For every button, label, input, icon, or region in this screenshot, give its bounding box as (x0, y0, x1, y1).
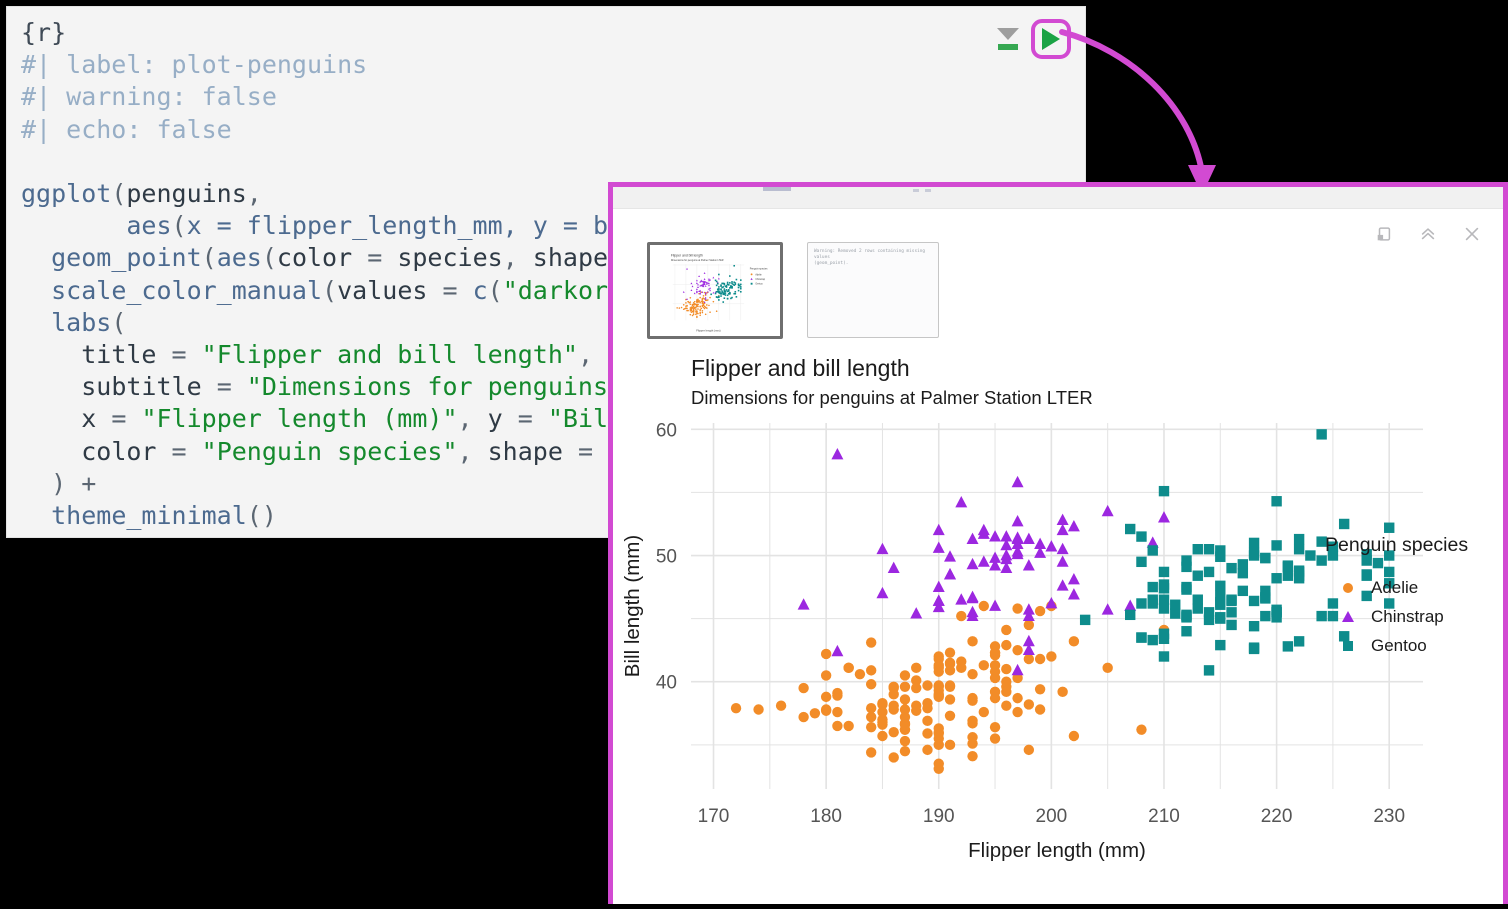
data-point (1271, 573, 1281, 583)
run-cell-button[interactable] (1031, 19, 1071, 59)
legend-label: Chinstrap (1371, 607, 1444, 627)
data-point (900, 746, 910, 756)
data-point (945, 658, 955, 668)
data-point (1046, 651, 1056, 661)
data-point (1215, 613, 1225, 623)
data-point (776, 701, 786, 711)
data-point (716, 296, 718, 298)
data-point (727, 291, 729, 293)
data-point (695, 304, 697, 306)
data-point (945, 647, 955, 657)
code-token: = (156, 340, 201, 369)
data-point (738, 287, 740, 289)
data-point (736, 279, 738, 281)
data-point (990, 693, 1000, 703)
data-point (978, 524, 990, 535)
data-point (934, 689, 944, 699)
data-point (699, 309, 701, 311)
code-editor-text[interactable]: {r}#| label: plot-penguins#| warning: fa… (7, 17, 697, 532)
code-token: , (503, 243, 533, 272)
data-point (1000, 530, 1012, 541)
data-point (1023, 533, 1035, 544)
data-point (821, 692, 831, 702)
data-point (1148, 545, 1158, 555)
data-point (691, 309, 693, 311)
code-line: theme_minimal() (21, 500, 683, 532)
data-point (705, 294, 707, 296)
data-point (686, 310, 688, 312)
data-point (810, 708, 820, 718)
x-tick-label: 170 (698, 806, 730, 827)
data-point (731, 283, 733, 285)
warning-thumbnail[interactable]: Warning: Removed 2 rows containing missi… (807, 242, 939, 338)
data-point (1159, 486, 1169, 496)
data-point (866, 722, 876, 732)
viewer-top-strip (613, 187, 1503, 209)
data-point (1249, 621, 1259, 631)
x-tick-label: 200 (1036, 806, 1068, 827)
data-point (821, 706, 831, 716)
code-token: subtitle (81, 372, 201, 401)
data-point (956, 611, 966, 621)
data-point (888, 562, 900, 573)
data-point (1012, 531, 1024, 542)
data-point (696, 316, 698, 318)
x-tick-label: 230 (1373, 806, 1405, 827)
data-point (1001, 701, 1011, 711)
data-point (706, 304, 708, 306)
data-point (721, 283, 723, 285)
data-point (832, 690, 842, 700)
data-point (690, 301, 692, 303)
code-token: c (473, 276, 488, 305)
data-point (685, 305, 687, 307)
data-point (699, 297, 701, 299)
data-point (889, 727, 899, 737)
data-point (866, 637, 876, 647)
data-point (843, 721, 853, 731)
data-point (990, 733, 1000, 743)
code-token: "Penguin species" (202, 437, 458, 466)
data-point (989, 600, 1001, 611)
data-point (683, 304, 685, 306)
data-point (922, 745, 932, 755)
data-point (900, 694, 910, 704)
data-point (910, 607, 922, 618)
code-token: shape (488, 437, 563, 466)
data-point (696, 288, 698, 290)
data-point (1283, 641, 1293, 651)
data-point (900, 712, 910, 722)
data-point (740, 291, 742, 293)
legend-item-chinstrap: Chinstrap (1325, 602, 1468, 631)
code-token: = (563, 437, 608, 466)
data-point (700, 308, 702, 310)
data-point (832, 707, 842, 717)
code-token: ( (172, 211, 187, 240)
code-line: aes(x = flipper_length_mm, y = bill_l (21, 210, 683, 242)
data-point (1012, 693, 1022, 703)
data-point (705, 313, 707, 315)
data-point (1294, 636, 1304, 646)
data-point (703, 297, 705, 299)
data-point (684, 308, 686, 310)
code-token: () (247, 501, 277, 530)
x-axis-label: Flipper length (mm) (968, 839, 1146, 862)
code-token: = (352, 243, 397, 272)
data-point (933, 541, 945, 552)
data-point (753, 704, 763, 714)
data-point (911, 675, 921, 685)
main-chart: Flipper and bill length Dimensions for p… (613, 349, 1503, 899)
cell-toolbar (995, 19, 1071, 59)
data-point (990, 722, 1000, 732)
thumbnail-text: Flipper and bill length (671, 254, 703, 258)
data-point (1136, 724, 1146, 734)
code-token (21, 501, 51, 530)
data-point (989, 552, 1001, 563)
data-point (1148, 635, 1158, 645)
data-point (900, 682, 910, 692)
data-point (724, 297, 726, 299)
data-point (967, 533, 979, 544)
data-point (1339, 519, 1349, 529)
legend-label: Gentoo (1371, 636, 1427, 656)
data-point (696, 305, 698, 307)
code-token: , (578, 340, 593, 369)
data-point (1102, 663, 1112, 673)
toolbar-ghost-dot (913, 189, 919, 192)
data-point (1204, 567, 1214, 577)
data-point (1012, 515, 1024, 526)
data-point (708, 278, 710, 280)
data-point (700, 300, 702, 302)
chart-legend: Penguin species Adelie Chinstrap Gentoo (1325, 534, 1468, 660)
data-point (1193, 571, 1203, 581)
code-token (21, 469, 51, 498)
data-point (1215, 640, 1225, 650)
code-line: x = "Flipper length (mm)", y = "Bill ler (21, 403, 683, 435)
code-token: ( (262, 243, 277, 272)
plot-thumbnail[interactable]: Flipper and bill lengthDimensions for pe… (647, 242, 783, 339)
data-point (821, 670, 831, 680)
data-point (1215, 600, 1225, 610)
code-token: geom_point (51, 243, 202, 272)
data-point (956, 656, 966, 666)
data-point (690, 307, 692, 309)
code-line: #| echo: false (21, 114, 683, 146)
data-point (731, 703, 741, 713)
data-point (1249, 596, 1259, 606)
code-line: #| warning: false (21, 81, 683, 113)
data-point (798, 712, 808, 722)
data-point (979, 660, 989, 670)
data-point (720, 284, 722, 286)
data-point (1012, 707, 1022, 717)
data-point (1384, 523, 1394, 533)
data-point (1249, 538, 1259, 548)
data-point (718, 274, 720, 276)
data-point (1181, 626, 1191, 636)
data-point (698, 275, 700, 277)
data-point (933, 594, 945, 605)
data-point (1001, 640, 1011, 650)
data-point (978, 555, 990, 566)
close-icon[interactable] (1463, 225, 1481, 243)
data-point (1012, 476, 1024, 487)
viewer-body: Flipper and bill lengthDimensions for pe… (613, 209, 1503, 904)
data-point (1035, 654, 1045, 664)
data-point (740, 286, 742, 288)
code-line: subtitle = "Dimensions for penguins at P (21, 371, 683, 403)
code-token: #| warning: false (21, 82, 277, 111)
data-point (691, 289, 693, 291)
data-point (709, 311, 711, 313)
code-token: = (503, 404, 548, 433)
code-token: , (458, 404, 488, 433)
panel-window-controls (1375, 225, 1481, 243)
code-token: = (156, 437, 201, 466)
data-point (726, 289, 728, 291)
data-point (990, 647, 1000, 657)
data-point (889, 701, 899, 711)
data-point (731, 281, 733, 283)
code-token (21, 372, 81, 401)
code-token: aes (126, 211, 171, 240)
code-token (21, 437, 81, 466)
data-point (1148, 594, 1158, 604)
data-point (1057, 543, 1069, 554)
data-point (718, 278, 720, 280)
code-token: #| label: plot-penguins (21, 50, 367, 79)
data-point (1125, 610, 1135, 620)
data-point (690, 297, 692, 299)
data-point (832, 721, 842, 731)
data-point (821, 649, 831, 659)
data-point (1215, 581, 1225, 591)
data-point (1102, 505, 1114, 516)
data-point (733, 265, 735, 267)
data-point (702, 299, 704, 301)
data-point (889, 689, 899, 699)
data-point (728, 293, 730, 295)
data-point (717, 283, 719, 285)
data-point (751, 273, 753, 275)
code-line: labs( (21, 307, 683, 339)
data-point (1136, 598, 1146, 608)
data-point (733, 293, 735, 295)
code-token: species (397, 243, 502, 272)
code-token: #| echo: false (21, 115, 232, 144)
data-point (1283, 571, 1293, 581)
thumbnail-text: Gentoo (755, 283, 763, 286)
data-point (1001, 664, 1011, 674)
data-point (967, 732, 977, 742)
data-point (900, 736, 910, 746)
data-point (738, 283, 740, 285)
data-point (967, 716, 977, 726)
data-point (735, 284, 737, 286)
data-point (724, 284, 726, 286)
data-point (1204, 544, 1214, 554)
code-line: title = "Flipper and bill length", (21, 339, 683, 371)
y-axis-label: Bill length (mm) (621, 535, 644, 677)
data-point (934, 764, 944, 774)
data-point (1068, 588, 1080, 599)
code-line: {r} (21, 17, 683, 49)
code-token (21, 340, 81, 369)
data-point (720, 295, 722, 297)
data-point (681, 307, 683, 309)
data-point (1159, 603, 1169, 613)
code-token: ggplot (21, 179, 111, 208)
data-point (1057, 687, 1067, 697)
data-point (740, 288, 742, 290)
data-point (1260, 586, 1270, 596)
data-point (720, 293, 722, 295)
data-point (1136, 632, 1146, 642)
data-point (694, 292, 696, 294)
data-point (1159, 583, 1169, 593)
data-point (717, 288, 719, 290)
popout-icon[interactable] (1375, 225, 1393, 243)
data-points (731, 429, 1395, 774)
data-point (696, 310, 698, 312)
data-point (686, 268, 688, 270)
data-point (1170, 608, 1180, 618)
x-tick-label: 180 (810, 806, 842, 827)
data-point (708, 305, 710, 307)
data-point (736, 296, 738, 298)
data-point (955, 593, 967, 604)
data-point (1294, 571, 1304, 581)
data-point (967, 558, 979, 569)
data-point (706, 300, 708, 302)
data-point (877, 698, 887, 708)
data-point (692, 315, 694, 317)
toolbar-ghost-item (763, 187, 791, 191)
data-point (720, 288, 722, 290)
code-token: theme_minimal (51, 501, 247, 530)
code-token: , (458, 437, 488, 466)
data-point (1068, 520, 1080, 531)
data-point (729, 282, 731, 284)
data-point (1238, 586, 1248, 596)
data-point (1035, 704, 1045, 714)
data-point (729, 275, 731, 277)
data-point (712, 277, 714, 279)
data-point (699, 290, 701, 292)
data-point (1024, 620, 1034, 630)
data-point (1035, 684, 1045, 694)
data-point (713, 301, 715, 303)
data-point (1249, 642, 1259, 652)
code-token: ( (111, 308, 126, 337)
code-token: , (247, 179, 262, 208)
data-point (1271, 496, 1281, 506)
data-point (685, 302, 687, 304)
data-point (922, 716, 932, 726)
collapse-chevron-up-icon[interactable] (1419, 225, 1437, 243)
data-point (876, 587, 888, 598)
data-point (933, 581, 945, 592)
data-point (876, 543, 888, 554)
code-token (21, 276, 51, 305)
data-point (934, 723, 944, 733)
data-point (1102, 603, 1114, 614)
data-point (690, 314, 692, 316)
series-chinstrap (798, 448, 1170, 675)
data-point (727, 282, 729, 284)
data-point (945, 694, 955, 704)
data-point (740, 279, 742, 281)
chart-subtitle: Dimensions for penguins at Palmer Statio… (691, 387, 1093, 409)
data-point (1080, 615, 1090, 625)
data-point (911, 701, 921, 711)
thumbnail-strip: Flipper and bill lengthDimensions for pe… (647, 242, 939, 339)
data-point (866, 747, 876, 757)
data-point (730, 287, 732, 289)
legend-key-square-icon (1325, 641, 1371, 651)
data-point (709, 287, 711, 289)
data-point (725, 294, 727, 296)
data-point (693, 308, 695, 310)
code-token: = (96, 404, 141, 433)
legend-label: Adelie (1371, 578, 1418, 598)
legend-item-gentoo: Gentoo (1325, 631, 1468, 660)
data-point (1069, 636, 1079, 646)
data-point (721, 290, 723, 292)
data-point (1204, 615, 1214, 625)
data-point (1226, 563, 1236, 573)
data-point (693, 312, 695, 314)
data-point (866, 679, 876, 689)
data-point (1045, 540, 1057, 551)
data-point (1136, 557, 1146, 567)
data-point (708, 284, 710, 286)
data-point (690, 303, 692, 305)
data-point (693, 310, 695, 312)
data-point (1271, 607, 1281, 617)
data-point (1023, 603, 1035, 614)
data-point (695, 313, 697, 315)
code-token: ( (488, 276, 503, 305)
data-point (694, 307, 696, 309)
data-point (716, 285, 718, 287)
data-point (877, 731, 887, 741)
code-token: ) + (51, 469, 96, 498)
thumbnail-text: Chinstrap (755, 278, 765, 281)
code-token: ( (111, 179, 126, 208)
data-point (697, 286, 699, 288)
data-point (1260, 611, 1270, 621)
run-play-icon (1042, 28, 1060, 50)
data-point (726, 286, 728, 288)
data-point (718, 286, 720, 288)
data-point (710, 294, 712, 296)
data-point (1057, 555, 1069, 566)
code-token: y (488, 404, 503, 433)
legend-key-circle-icon (1325, 583, 1371, 593)
data-point (679, 307, 681, 309)
code-line: geom_point(aes(color = species, shape = … (21, 242, 683, 274)
data-point (696, 290, 698, 292)
code-token: shape (533, 243, 608, 272)
data-point (889, 752, 899, 762)
data-point (724, 288, 726, 290)
data-point (718, 296, 720, 298)
run-above-icon[interactable] (995, 24, 1021, 54)
